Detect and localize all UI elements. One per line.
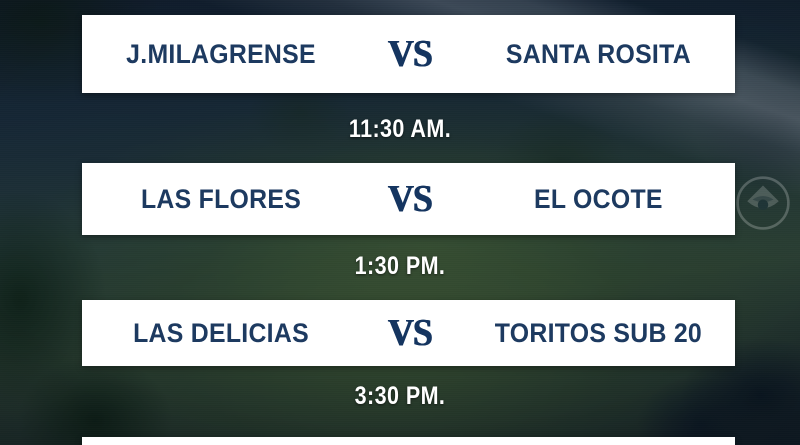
match-time-2: 1:30 PM.: [56, 252, 744, 281]
match-schedule-poster: J.MILAGRENSE VS SANTA ROSITA 11:30 AM. L…: [0, 0, 800, 445]
match-time-1: 11:30 AM.: [56, 115, 744, 144]
team-away-3: TORITOS SUB 20: [475, 318, 724, 349]
match-time-3: 3:30 PM.: [56, 382, 744, 411]
vs-separator-1: VS: [358, 32, 461, 76]
vs-separator-2: VS: [358, 177, 461, 221]
team-away-1: SANTA ROSITA: [475, 39, 724, 70]
team-home-2: LAS FLORES: [93, 184, 344, 215]
match-bar-1[interactable]: J.MILAGRENSE VS SANTA ROSITA: [82, 15, 735, 93]
match-bar-4-partial[interactable]: [82, 437, 735, 445]
match-bar-2[interactable]: LAS FLORES VS EL OCOTE: [82, 163, 735, 235]
team-home-3: LAS DELICIAS: [93, 318, 344, 349]
vs-separator-3: VS: [358, 311, 461, 355]
match-bar-3[interactable]: LAS DELICIAS VS TORITOS SUB 20: [82, 300, 735, 366]
team-away-2: EL OCOTE: [475, 184, 724, 215]
team-home-1: J.MILAGRENSE: [93, 39, 344, 70]
